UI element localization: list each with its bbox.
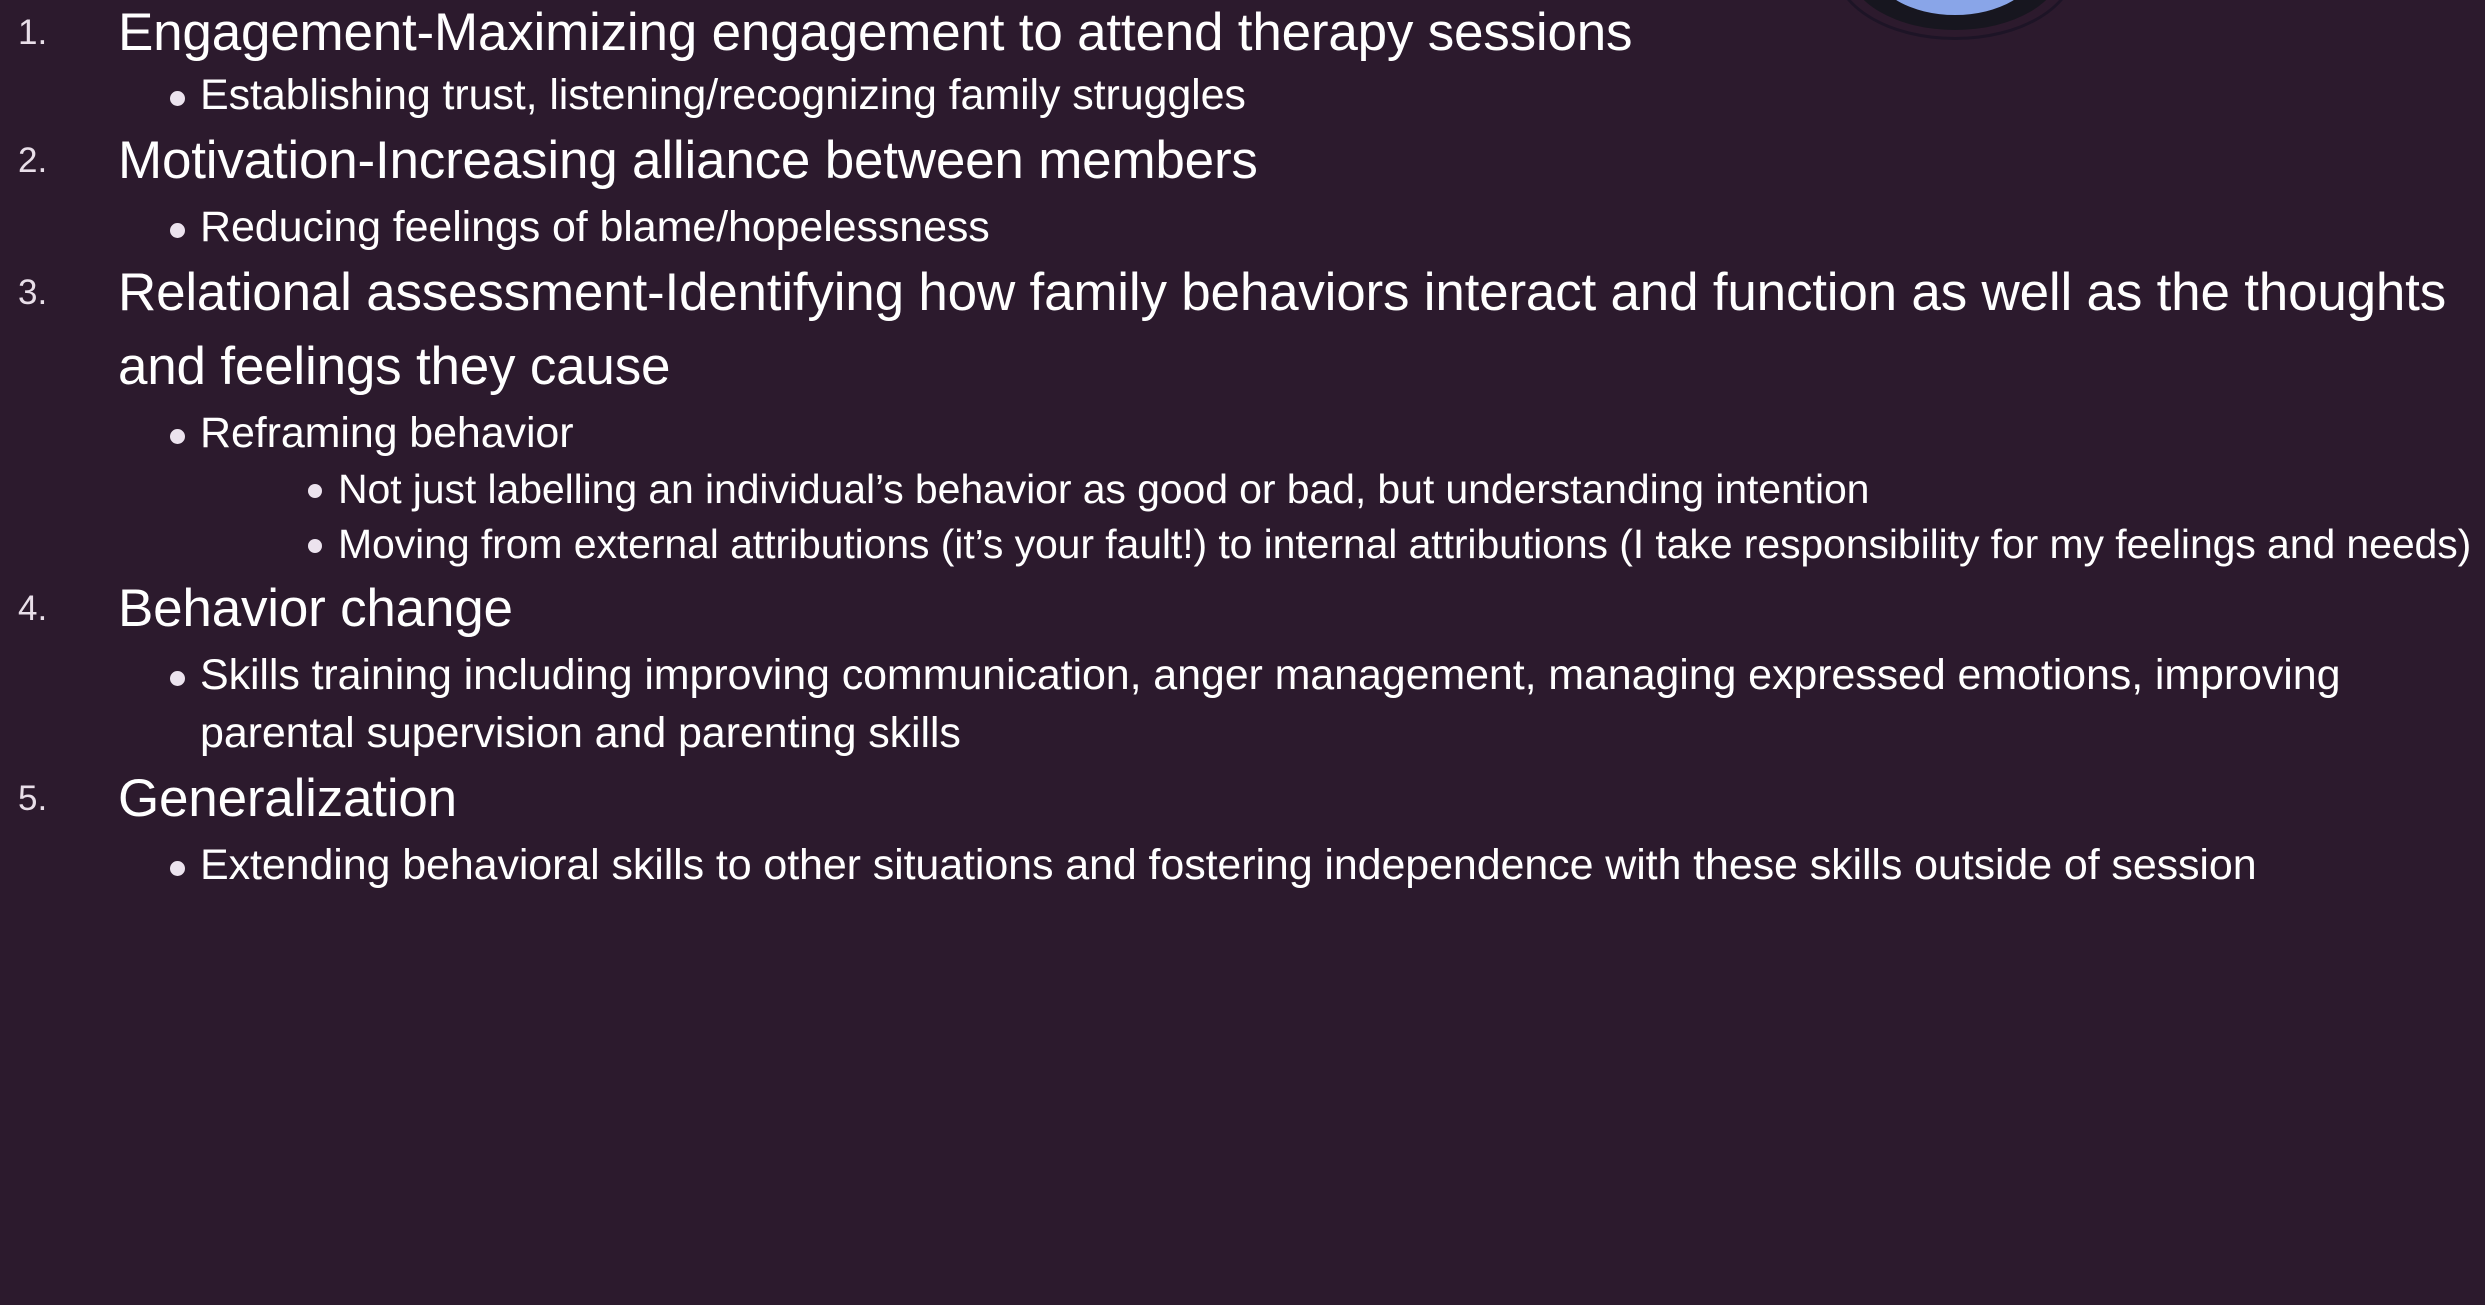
list-item: Reframing behavior Not just labelling an… — [148, 404, 2485, 572]
list-item-1: 1. Engagement-Maximizing engagement to a… — [0, 0, 2485, 124]
bullet-text: Reframing behavior — [200, 404, 2485, 462]
list-item: Extending behavioral skills to other sit… — [148, 836, 2485, 894]
list-item: Establishing trust, listening/recognizin… — [148, 66, 2485, 124]
slide-canvas: 1. Engagement-Maximizing engagement to a… — [0, 0, 2485, 1305]
bullet-text: Extending behavioral skills to other sit… — [200, 836, 2485, 894]
list-item-2: 2. Motivation-Increasing alliance betwee… — [0, 124, 2485, 256]
bullet-dot-icon — [308, 484, 322, 498]
bullet-dot-icon — [170, 223, 185, 238]
list-number-1: 1. — [18, 0, 100, 66]
list-number-3: 3. — [18, 256, 100, 330]
sub-list-3: Reframing behavior Not just labelling an… — [118, 404, 2485, 572]
list-heading-4: Behavior change — [118, 572, 2485, 646]
list-heading-2: Motivation-Increasing alliance between m… — [118, 124, 2485, 198]
list-number-5: 5. — [18, 762, 100, 836]
bullet-dot-icon — [170, 861, 185, 876]
slide-body: 1. Engagement-Maximizing engagement to a… — [0, 0, 2485, 894]
bullet-text: Reducing feelings of blame/hopelessness — [200, 198, 2485, 256]
list-item: Skills training including improving comm… — [148, 646, 2485, 762]
numbered-list: 1. Engagement-Maximizing engagement to a… — [0, 0, 2485, 894]
list-item-5: 5. Generalization Extending behavioral s… — [0, 762, 2485, 894]
sub-list-2: Reducing feelings of blame/hopelessness — [118, 198, 2485, 256]
list-item-3: 3. Relational assessment-Identifying how… — [0, 256, 2485, 572]
sub-sub-list-3: Not just labelling an individual’s behav… — [200, 462, 2485, 572]
sub-list-4: Skills training including improving comm… — [118, 646, 2485, 762]
list-number-2: 2. — [18, 124, 100, 198]
list-item: Reducing feelings of blame/hopelessness — [148, 198, 2485, 256]
list-item: Moving from external attributions (it’s … — [288, 517, 2485, 572]
list-heading-1: Engagement-Maximizing engagement to atte… — [118, 0, 2485, 66]
sub-list-5: Extending behavioral skills to other sit… — [118, 836, 2485, 894]
sub-bullet-text: Not just labelling an individual’s behav… — [338, 462, 2485, 517]
bullet-text: Establishing trust, listening/recognizin… — [200, 66, 2485, 124]
list-item: Not just labelling an individual’s behav… — [288, 462, 2485, 517]
list-heading-5: Generalization — [118, 762, 2485, 836]
bullet-text: Skills training including improving comm… — [200, 646, 2485, 762]
bullet-dot-icon — [308, 539, 322, 553]
list-item-4: 4. Behavior change Skills training inclu… — [0, 572, 2485, 762]
sub-bullet-text: Moving from external attributions (it’s … — [338, 517, 2485, 572]
list-heading-3: Relational assessment-Identifying how fa… — [118, 256, 2485, 404]
bullet-dot-icon — [170, 429, 185, 444]
bullet-dot-icon — [170, 91, 185, 106]
sub-list-1: Establishing trust, listening/recognizin… — [118, 66, 2485, 124]
list-number-4: 4. — [18, 572, 100, 646]
bullet-dot-icon — [170, 671, 185, 686]
